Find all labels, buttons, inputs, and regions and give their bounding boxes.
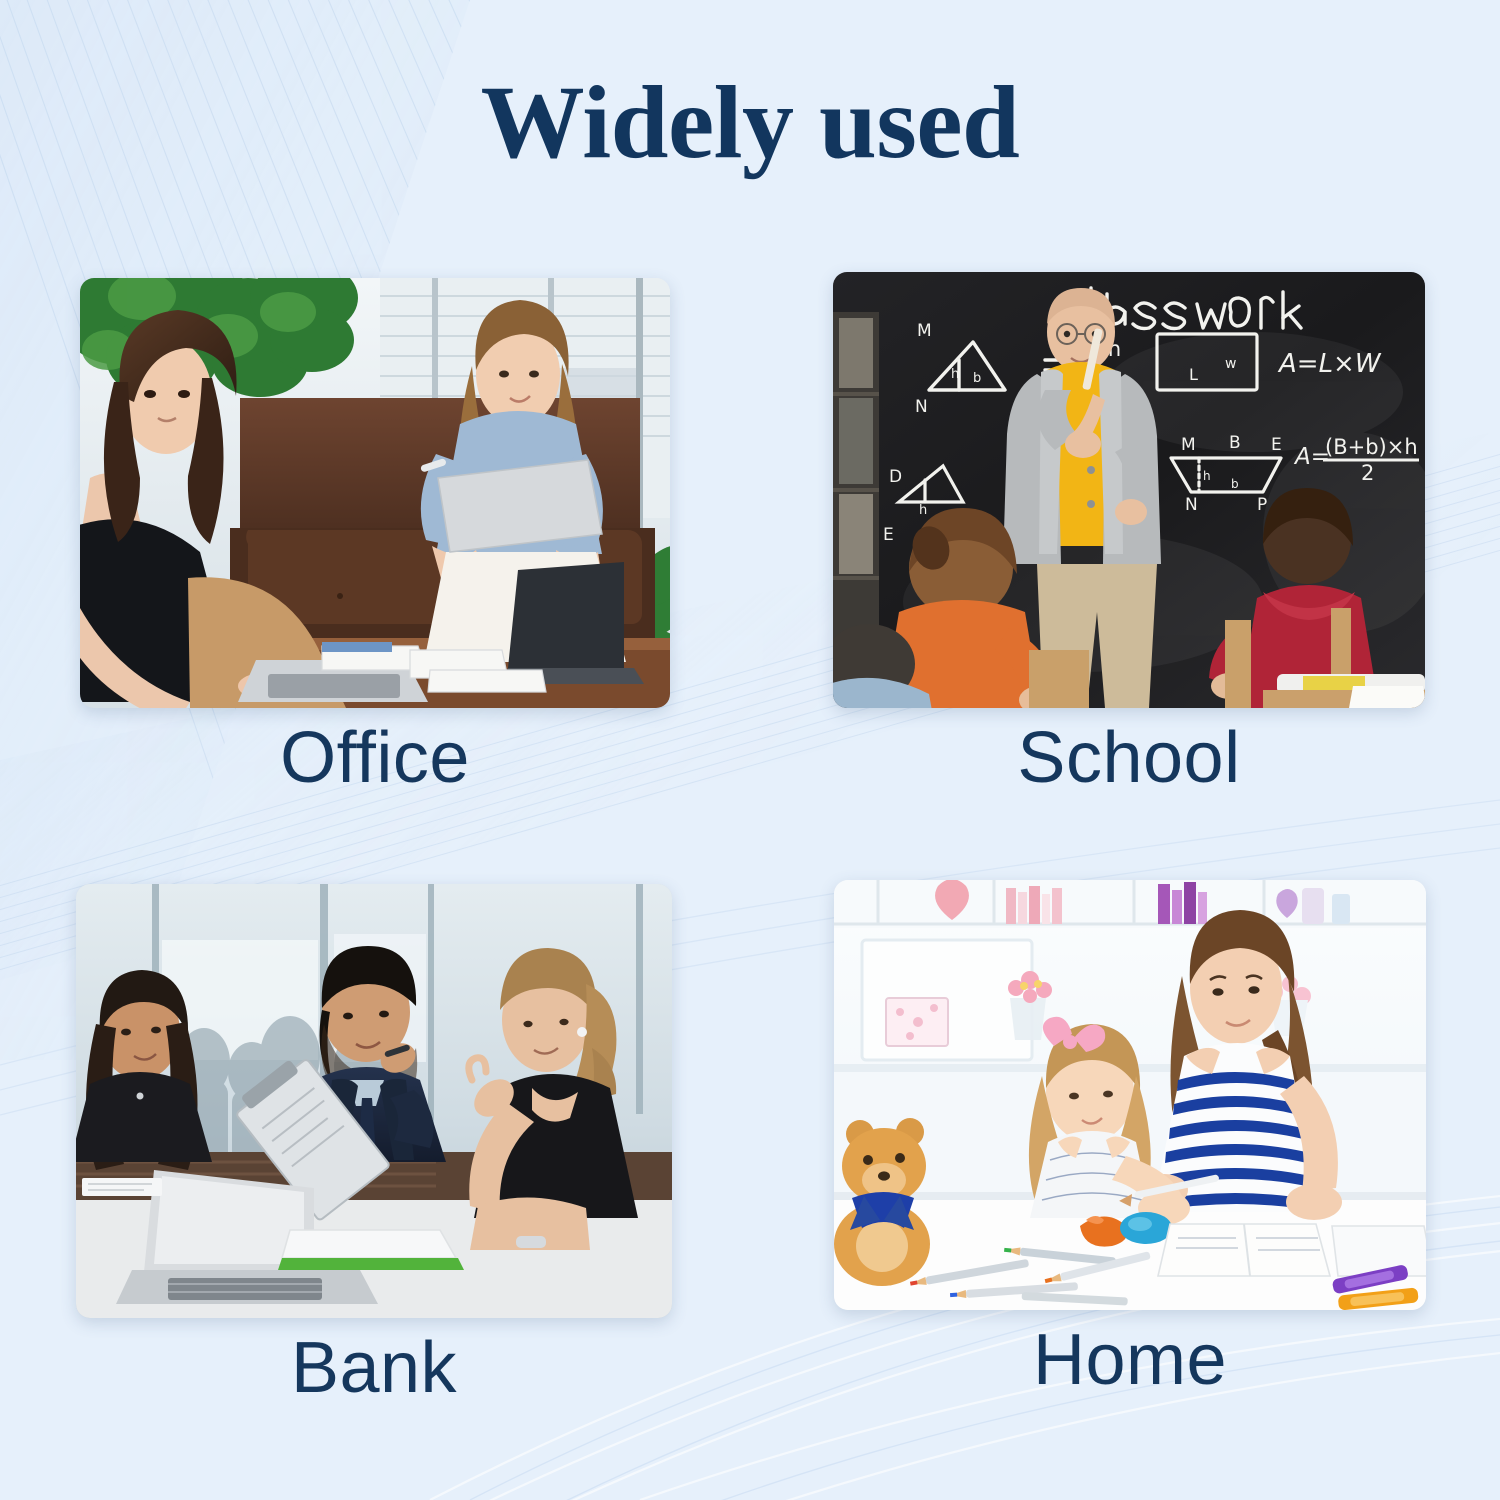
card-office: Office <box>80 278 670 799</box>
svg-text:E: E <box>883 525 894 545</box>
photo-school: MN hb b×h2 DE h h Lw A=L×W <box>833 272 1425 708</box>
svg-text:w: w <box>1225 356 1236 372</box>
photo-office <box>80 278 670 708</box>
svg-text:A=L×W: A=L×W <box>1277 349 1382 379</box>
photo-bank <box>76 884 672 1318</box>
svg-text:M: M <box>917 321 932 341</box>
caption-bank: Bank <box>76 1328 672 1409</box>
svg-text:D: D <box>889 467 902 487</box>
svg-text:B: B <box>1229 433 1241 453</box>
card-home: Home <box>834 880 1426 1401</box>
svg-text:N: N <box>915 397 928 417</box>
card-bank: Bank <box>76 884 672 1409</box>
svg-text:h: h <box>1203 469 1211 483</box>
svg-text:b: b <box>973 371 981 386</box>
svg-text:L: L <box>1189 365 1198 384</box>
caption-office: Office <box>80 718 670 799</box>
svg-text:b: b <box>1231 477 1239 491</box>
svg-text:h: h <box>919 503 927 518</box>
photo-home <box>834 880 1426 1310</box>
caption-school: School <box>833 718 1425 799</box>
svg-text:N: N <box>1185 495 1198 515</box>
caption-home: Home <box>834 1320 1426 1401</box>
svg-text:M: M <box>1181 435 1196 455</box>
svg-text:2: 2 <box>1361 461 1374 485</box>
svg-text:E: E <box>1271 435 1282 455</box>
svg-text:(B+b)×h: (B+b)×h <box>1325 435 1418 459</box>
svg-text:h: h <box>951 367 959 382</box>
card-school: MN hb b×h2 DE h h Lw A=L×W <box>833 272 1425 799</box>
page-title: Widely used <box>0 68 1500 178</box>
svg-text:P: P <box>1257 495 1267 515</box>
